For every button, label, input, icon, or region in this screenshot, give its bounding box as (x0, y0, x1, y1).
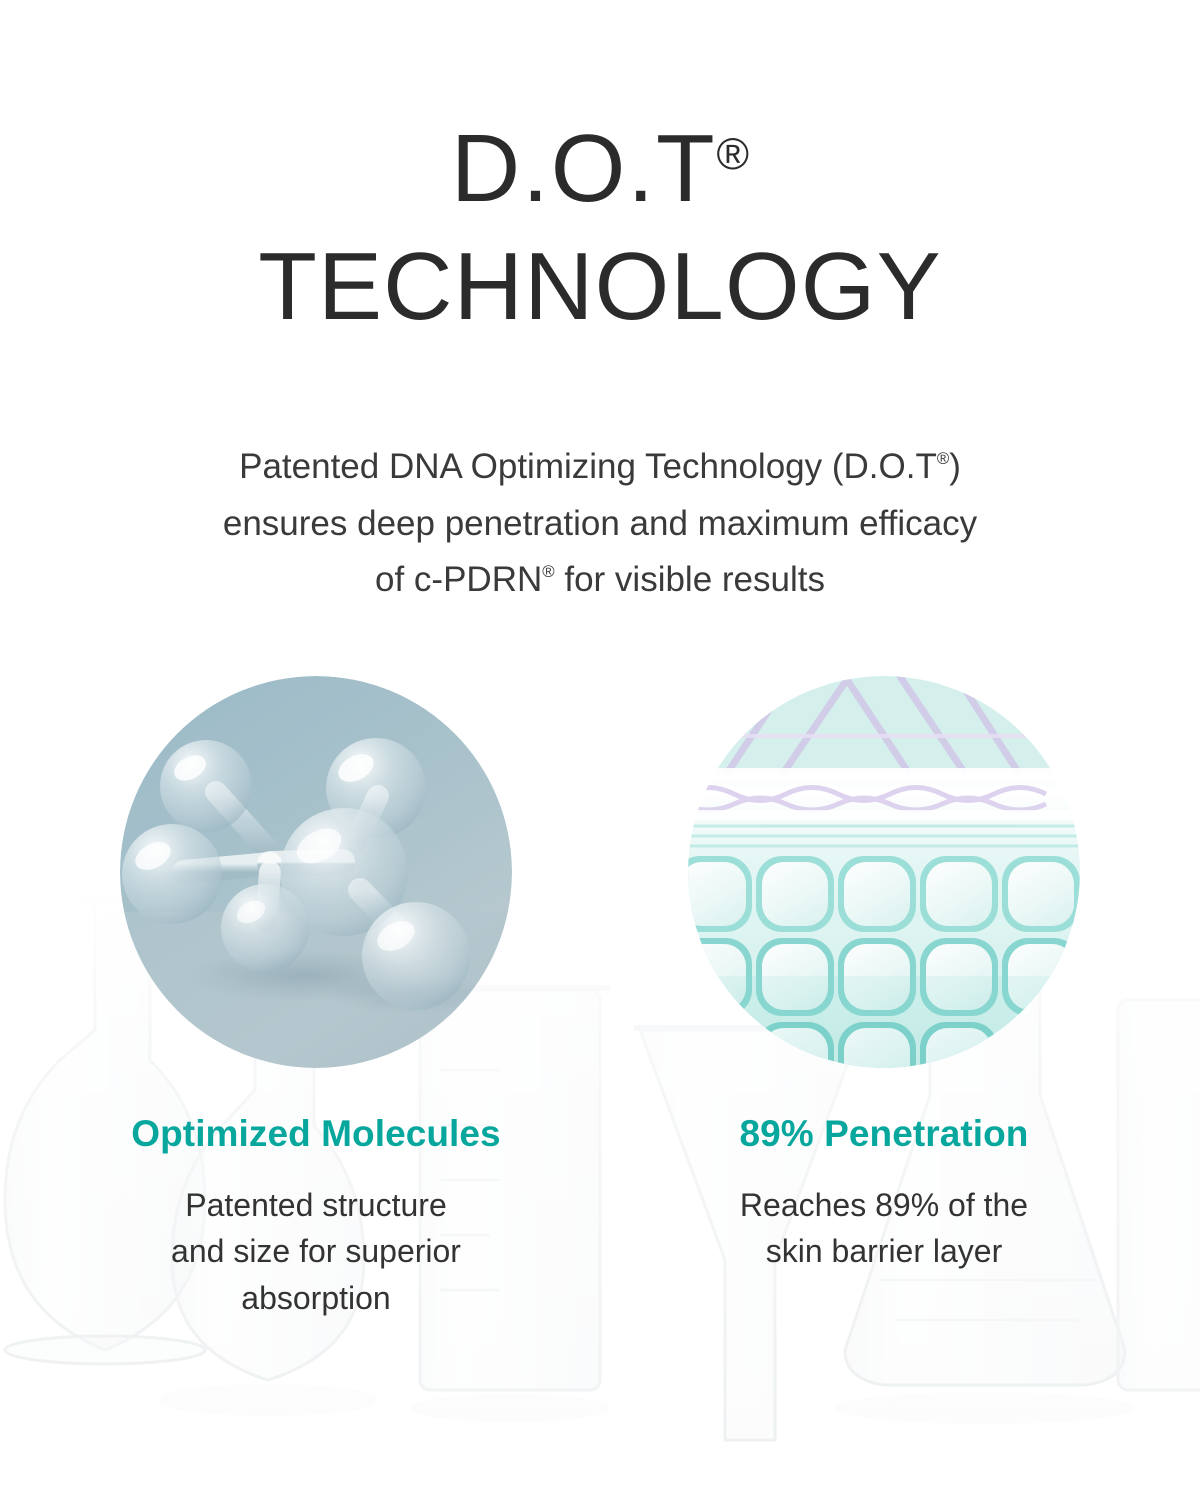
registered-trademark-icon: ® (717, 131, 750, 180)
page-subtitle-line-2: ensures deep penetration and maximum eff… (0, 496, 1200, 553)
feature-optimized-molecules: Optimized Molecules Patented structure a… (36, 676, 596, 1321)
page-title: D.O.T® TECHNOLOGY (0, 113, 1200, 342)
feature-title-optimized-molecules: Optimized Molecules (131, 1112, 500, 1156)
feature-body-line: skin barrier layer (740, 1228, 1028, 1274)
molecule-image (120, 676, 512, 1068)
registered-trademark-icon: ® (542, 563, 554, 582)
page-title-dot-text: D.O.T (451, 115, 717, 222)
page-subtitle: Patented DNA Optimizing Technology (D.O.… (0, 439, 1200, 609)
feature-title-penetration: 89% Penetration (740, 1112, 1029, 1156)
page-subtitle-line-1: Patented DNA Optimizing Technology (D.O.… (0, 439, 1200, 496)
feature-body-line: absorption (171, 1275, 461, 1321)
page-title-line-1: D.O.T® (0, 113, 1200, 224)
page-subtitle-line-3: of c-PDRN® for visible results (0, 552, 1200, 609)
page-title-line-2: TECHNOLOGY (0, 231, 1200, 342)
feature-body-penetration: Reaches 89% of the skin barrier layer (740, 1182, 1028, 1274)
dot-technology-infographic: D.O.T® TECHNOLOGY Patented DNA Optimizin… (0, 0, 1200, 1500)
page-subtitle-line-3-text: of c-PDRN (375, 560, 542, 599)
feature-body-line: Reaches 89% of the (740, 1182, 1028, 1228)
skin-barrier-image (688, 676, 1080, 1068)
page-subtitle-line-1-close: ) (949, 447, 961, 486)
registered-trademark-icon: ® (937, 449, 949, 468)
feature-columns: Optimized Molecules Patented structure a… (0, 676, 1200, 1321)
page-subtitle-line-1-text: Patented DNA Optimizing Technology (D.O.… (239, 447, 937, 486)
feature-body-line: Patented structure (171, 1182, 461, 1228)
page-subtitle-line-3-tail: for visible results (555, 560, 825, 599)
feature-penetration: 89% Penetration Reaches 89% of the skin … (604, 676, 1164, 1275)
feature-body-optimized-molecules: Patented structure and size for superior… (171, 1182, 461, 1320)
feature-body-line: and size for superior (171, 1228, 461, 1274)
